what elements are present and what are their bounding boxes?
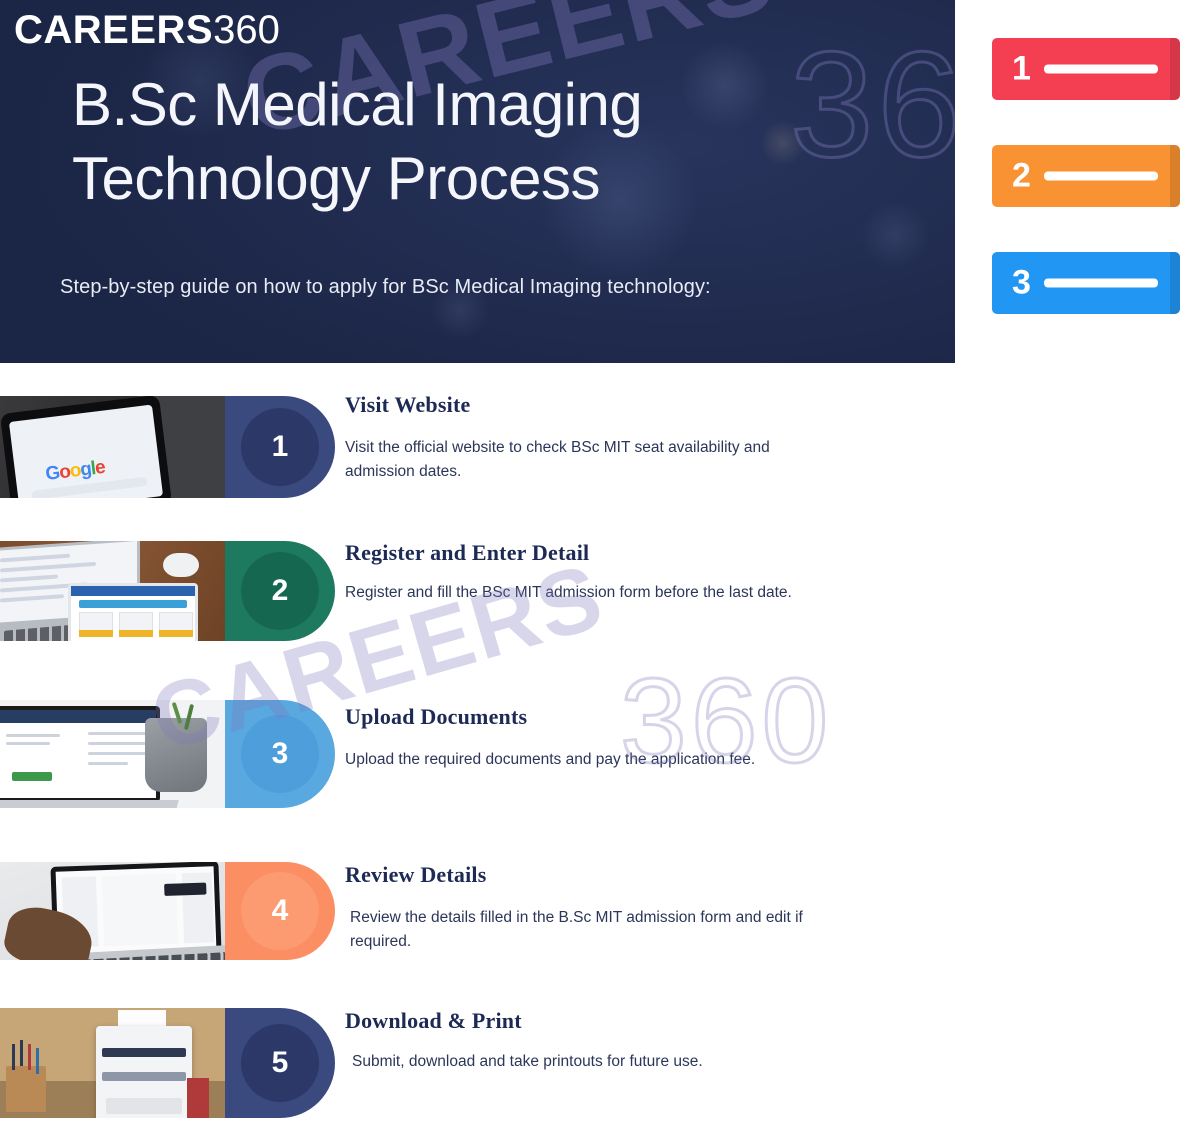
step-5-badge: 5 bbox=[225, 1008, 335, 1118]
stacked-bar-1: 1 bbox=[992, 38, 1180, 100]
step-2-title: Register and Enter Detail bbox=[345, 540, 589, 566]
stacked-bar-1-number: 1 bbox=[1012, 51, 1031, 85]
step-row-5: 5 Download & Print Submit, download and … bbox=[0, 1008, 1200, 1118]
step-row-2: 2 Register and Enter Detail Register and… bbox=[0, 541, 1200, 641]
step-1-title: Visit Website bbox=[345, 392, 470, 418]
step-row-4: 4 Review Details Review the details fill… bbox=[0, 862, 1200, 960]
step-row-3: 3 Upload Documents Upload the required d… bbox=[0, 700, 1200, 808]
stacked-bar-edge bbox=[1170, 252, 1180, 314]
stacked-bars-graphic: 1 2 3 bbox=[980, 30, 1180, 320]
step-3-title: Upload Documents bbox=[345, 704, 527, 730]
step-3-badge: 3 bbox=[225, 700, 335, 808]
stacked-bar-edge bbox=[1170, 145, 1180, 207]
bar-connector bbox=[1000, 92, 1176, 150]
stacked-bar-3-number: 3 bbox=[1012, 265, 1031, 299]
step-4-badge: 4 bbox=[225, 862, 335, 960]
careers360-logo: CAREERS 360 bbox=[14, 8, 280, 53]
step-4-number: 4 bbox=[241, 872, 319, 950]
step-1-image: Google bbox=[0, 396, 225, 498]
step-2-number: 2 bbox=[241, 552, 319, 630]
step-5-description: Submit, download and take printouts for … bbox=[352, 1050, 872, 1074]
step-1-badge: 1 bbox=[225, 396, 335, 498]
page-subtitle: Step-by-step guide on how to apply for B… bbox=[60, 276, 920, 299]
step-3-description: Upload the required documents and pay th… bbox=[345, 748, 865, 772]
stacked-bar-3: 3 bbox=[992, 252, 1180, 314]
step-row-1: Google 1 Visit Website Visit the officia… bbox=[0, 396, 1200, 498]
header-panel: CAREERS 360 CAREERS 360 B.Sc Medical Ima… bbox=[0, 0, 955, 363]
stacked-bar-edge bbox=[1170, 38, 1180, 100]
step-2-image bbox=[0, 541, 225, 641]
page-title: B.Sc Medical Imaging Technology Process bbox=[72, 68, 862, 217]
stacked-bar-rule bbox=[1044, 65, 1158, 74]
step-1-description: Visit the official website to check BSc … bbox=[345, 436, 815, 484]
step-3-image bbox=[0, 700, 225, 808]
stacked-bar-2-number: 2 bbox=[1012, 158, 1031, 192]
step-3-number: 3 bbox=[241, 715, 319, 793]
step-2-description: Register and fill the BSc MIT admission … bbox=[345, 581, 815, 605]
step-1-number: 1 bbox=[241, 408, 319, 486]
step-2-badge: 2 bbox=[225, 541, 335, 641]
step-4-description: Review the details filled in the B.Sc MI… bbox=[350, 906, 820, 954]
stacked-bar-2: 2 bbox=[992, 145, 1180, 207]
step-5-title: Download & Print bbox=[345, 1008, 522, 1034]
bar-connector bbox=[1000, 200, 1176, 258]
bokeh-light bbox=[860, 200, 930, 270]
step-4-title: Review Details bbox=[345, 862, 486, 888]
infographic-page: CAREERS 360 CAREERS 360 B.Sc Medical Ima… bbox=[0, 0, 1200, 1121]
stacked-bar-rule bbox=[1044, 172, 1158, 181]
step-4-image bbox=[0, 862, 225, 960]
step-5-number: 5 bbox=[241, 1024, 319, 1102]
stacked-bar-rule bbox=[1044, 279, 1158, 288]
logo-careers-text: CAREERS bbox=[14, 8, 213, 53]
step-5-image bbox=[0, 1008, 225, 1118]
logo-360-text: 360 bbox=[213, 8, 280, 53]
